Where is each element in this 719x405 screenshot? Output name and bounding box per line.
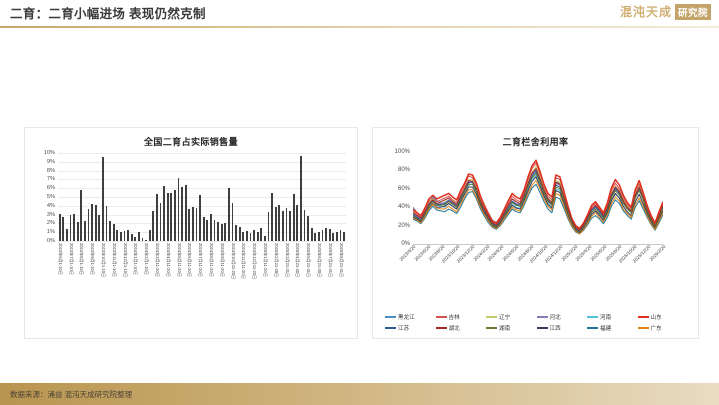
bar-item xyxy=(149,230,151,241)
bar-y-tick-label: 2% xyxy=(47,220,55,226)
bar-item xyxy=(304,210,306,241)
legend-item[interactable]: 河南 xyxy=(587,313,638,321)
bar-x-tick-label: 2025年3月21-31日 xyxy=(284,243,290,277)
bar-item xyxy=(73,214,75,241)
legend-color-swatch xyxy=(436,316,447,318)
line-y-tick-label: 0% xyxy=(401,241,410,247)
bar-item xyxy=(109,221,111,241)
bar-item xyxy=(307,216,309,241)
chart-panel-line: 二育栏舍利用率 0%20%40%60%80%100%2023/4/202023/… xyxy=(372,127,699,339)
bar-item xyxy=(325,228,327,241)
bar-item xyxy=(340,230,342,241)
bar-item xyxy=(106,206,108,241)
bar-item xyxy=(214,220,216,241)
bar-item xyxy=(253,230,255,241)
bar-x-tick-label: 2025年1月11-20日 xyxy=(262,243,268,277)
line-y-tick-label: 80% xyxy=(398,167,410,173)
bar-item xyxy=(188,209,190,241)
bar-x-tick-label: 2025年8月21-31日 xyxy=(338,243,344,277)
bar-item xyxy=(332,233,334,241)
bar-x-tick-label: 2024年5月11-20日 xyxy=(176,243,182,277)
bar-item xyxy=(62,217,64,241)
bar-item xyxy=(66,229,68,241)
bar-x-tick-label: 2025年4月21-30日 xyxy=(294,243,300,277)
legend-color-swatch xyxy=(385,316,396,318)
legend-label: 江西 xyxy=(550,324,561,332)
bar-item xyxy=(124,231,126,241)
bar-item xyxy=(196,208,198,241)
bar-item xyxy=(268,212,270,241)
legend-label: 湖南 xyxy=(499,324,510,332)
bar-item xyxy=(120,232,122,241)
bar-item xyxy=(217,222,219,241)
bar-item xyxy=(178,178,180,241)
bar-item xyxy=(95,205,97,241)
bar-item xyxy=(296,205,298,241)
legend-color-swatch xyxy=(638,316,649,318)
bar-item xyxy=(300,156,302,241)
bar-item xyxy=(138,232,140,241)
legend-item[interactable]: 江苏 xyxy=(385,324,436,332)
bar-x-tick-label: 2024年6月11-20日 xyxy=(186,243,192,277)
bar-item xyxy=(142,238,144,241)
bar-gridline xyxy=(58,153,346,154)
brand-logo: 混沌天成 研究院 xyxy=(620,3,711,20)
line-y-tick-label: 40% xyxy=(398,204,410,210)
legend-item[interactable]: 江西 xyxy=(537,324,588,332)
legend-item[interactable]: 河北 xyxy=(537,313,588,321)
legend-item[interactable]: 辽宁 xyxy=(486,313,537,321)
brand-name: 混沌天成 xyxy=(620,3,672,20)
legend-label: 河南 xyxy=(600,313,611,321)
bar-x-tick-label: 2023年12月1-10日 xyxy=(122,243,128,277)
legend-label: 广东 xyxy=(651,324,662,332)
bar-chart-plot-area: 0%1%2%3%4%5%6%7%8%9%10%2023年6月1-10日2023年… xyxy=(58,153,346,241)
bar-item xyxy=(293,194,295,241)
bar-x-tick-label: 2024年11月11-20日 xyxy=(240,243,246,279)
legend-item[interactable]: 黑龙江 xyxy=(385,313,436,321)
bar-item xyxy=(181,187,183,241)
bar-item xyxy=(134,237,136,241)
bar-item xyxy=(232,203,234,241)
bar-item xyxy=(185,185,187,241)
bar-item xyxy=(210,214,212,241)
line-chart-svg xyxy=(413,152,663,244)
bar-item xyxy=(116,230,118,241)
slide: 二育：二育小幅进场 表现仍然克制 混沌天成 研究院 全国二育占实际销售量 0%1… xyxy=(0,0,719,405)
slide-header: 二育：二育小幅进场 表现仍然克制 混沌天成 研究院 xyxy=(0,0,719,27)
bar-item xyxy=(314,233,316,241)
bar-item xyxy=(239,227,241,241)
bar-item xyxy=(170,193,172,241)
bar-item xyxy=(242,232,244,241)
bar-item xyxy=(260,228,262,241)
line-y-tick-label: 20% xyxy=(398,223,410,229)
bar-item xyxy=(224,223,226,241)
bar-item xyxy=(91,204,93,241)
line-x-axis xyxy=(413,244,663,245)
bar-item xyxy=(271,193,273,241)
bar-item xyxy=(163,186,165,241)
bar-item xyxy=(113,224,115,241)
bar-x-tick-label: 2024年10月11-20日 xyxy=(230,243,236,279)
legend-color-swatch xyxy=(486,327,497,329)
bar-x-tick-label: 2025年2月21-28日 xyxy=(273,243,279,277)
bar-y-tick-label: 5% xyxy=(47,194,55,200)
bar-item xyxy=(286,208,288,241)
bar-x-tick-label: 2024年4月11-20日 xyxy=(165,243,171,277)
legend-item[interactable]: 福建 xyxy=(587,324,638,332)
bar-y-tick-label: 1% xyxy=(47,229,55,235)
legend-label: 辽宁 xyxy=(499,313,510,321)
bar-item xyxy=(156,194,158,241)
legend-label: 河北 xyxy=(550,313,561,321)
line-chart-title: 二育栏舍利用率 xyxy=(373,128,698,148)
bar-item xyxy=(289,211,291,241)
bar-item xyxy=(278,205,280,241)
line-chart-plot-area: 0%20%40%60%80%100%2023/4/202023/6/202023… xyxy=(413,152,663,244)
bar-item xyxy=(145,240,147,241)
bar-item xyxy=(77,222,79,241)
bar-x-tick-label: 2023年7月1-10日 xyxy=(68,243,74,275)
bar-x-tick-label: 2023年9月1-10日 xyxy=(89,243,95,275)
bar-item xyxy=(192,207,194,241)
legend-color-swatch xyxy=(587,316,598,318)
legend-label: 黑龙江 xyxy=(398,313,415,321)
bar-x-tick-label: 2025年6月21-30日 xyxy=(316,243,322,277)
bar-item xyxy=(102,157,104,241)
legend-label: 山东 xyxy=(651,313,662,321)
bar-y-tick-label: 7% xyxy=(47,176,55,182)
bar-item xyxy=(88,209,90,241)
bar-item xyxy=(282,211,284,241)
bar-item xyxy=(199,195,201,241)
bar-item xyxy=(275,207,277,241)
bar-y-tick-label: 4% xyxy=(47,203,55,209)
legend-label: 吉林 xyxy=(449,313,460,321)
bar-item xyxy=(311,228,313,241)
bar-item xyxy=(221,224,223,241)
bar-item xyxy=(59,214,61,241)
bar-chart-title: 全国二育占实际销售量 xyxy=(25,128,357,148)
bar-item xyxy=(257,232,259,241)
bar-x-tick-label: 2024年7月11-20日 xyxy=(197,243,203,277)
bar-item xyxy=(246,231,248,241)
legend-color-swatch xyxy=(587,327,598,329)
brand-badge: 研究院 xyxy=(675,4,711,20)
bar-item xyxy=(329,229,331,241)
legend-item[interactable]: 广东 xyxy=(638,324,689,332)
bar-y-tick-label: 0% xyxy=(47,238,55,244)
bar-y-tick-label: 6% xyxy=(47,185,55,191)
bar-item xyxy=(167,193,169,241)
line-y-tick-label: 100% xyxy=(395,149,410,155)
chart-panel-bar: 全国二育占实际销售量 0%1%2%3%4%5%6%7%8%9%10%2023年6… xyxy=(24,127,358,339)
bar-item xyxy=(322,230,324,241)
bar-y-tick-label: 9% xyxy=(47,159,55,165)
bar-item xyxy=(160,203,162,241)
bar-y-tick-label: 10% xyxy=(44,150,55,156)
bar-item xyxy=(152,211,154,241)
legend-color-swatch xyxy=(436,327,447,329)
bar-item xyxy=(98,215,100,241)
bar-item xyxy=(127,230,129,241)
bar-item xyxy=(70,215,72,241)
bar-item xyxy=(250,233,252,241)
legend-item[interactable]: 山东 xyxy=(638,313,689,321)
bar-x-tick-label: 2023年8月1-10日 xyxy=(78,243,84,275)
bar-x-tick-label: 2025年7月21-31日 xyxy=(327,243,333,277)
bar-item xyxy=(174,190,176,241)
bar-x-tick-label: 2023年6月1-10日 xyxy=(57,243,63,275)
legend-label: 湖北 xyxy=(449,324,460,332)
bar-item xyxy=(80,190,82,241)
line-y-tick-label: 60% xyxy=(398,186,410,192)
bar-x-tick-label: 2024年1月1-10日 xyxy=(132,243,138,275)
legend-color-swatch xyxy=(537,327,548,329)
page-title: 二育：二育小幅进场 表现仍然克制 xyxy=(10,3,206,22)
bar-item xyxy=(318,232,320,241)
legend-color-swatch xyxy=(537,316,548,318)
header-divider xyxy=(0,26,719,28)
bar-x-tick-label: 2023年11月1-10日 xyxy=(111,243,117,277)
legend-color-swatch xyxy=(638,327,649,329)
line-chart-legend: 黑龙江吉林辽宁河北河南山东江苏湖北湖南江西福建广东 xyxy=(385,313,688,332)
bar-x-tick-label: 2024年2月1-10日 xyxy=(143,243,149,275)
legend-color-swatch xyxy=(385,327,396,329)
legend-item[interactable]: 吉林 xyxy=(436,313,487,321)
data-source-note: 数据来源：涌益 混沌天成研究院整理 xyxy=(10,389,132,400)
bar-item xyxy=(336,232,338,241)
legend-label: 福建 xyxy=(600,324,611,332)
bar-x-tick-label: 2024年12月11-20日 xyxy=(251,243,257,279)
legend-item[interactable]: 湖北 xyxy=(436,324,487,332)
legend-item[interactable]: 湖南 xyxy=(486,324,537,332)
bar-y-tick-label: 3% xyxy=(47,212,55,218)
bar-item xyxy=(203,217,205,241)
bar-item xyxy=(228,188,230,241)
bar-x-tick-label: 2024年3月11-20日 xyxy=(154,243,160,277)
bar-item xyxy=(235,225,237,241)
bar-item xyxy=(131,234,133,241)
bar-gridline xyxy=(58,241,346,242)
legend-label: 江苏 xyxy=(398,324,409,332)
legend-color-swatch xyxy=(486,316,497,318)
bar-item xyxy=(264,236,266,241)
bar-x-tick-label: 2024年8月11-20日 xyxy=(208,243,214,277)
bar-x-tick-label: 2024年9月11-20日 xyxy=(219,243,225,277)
bar-x-tick-label: 2023年10月1-10日 xyxy=(100,243,106,277)
bar-x-tick-label: 2025年5月21-31日 xyxy=(305,243,311,277)
bar-item xyxy=(343,232,345,241)
bar-item xyxy=(84,221,86,241)
bar-item xyxy=(206,220,208,241)
bar-y-tick-label: 8% xyxy=(47,168,55,174)
